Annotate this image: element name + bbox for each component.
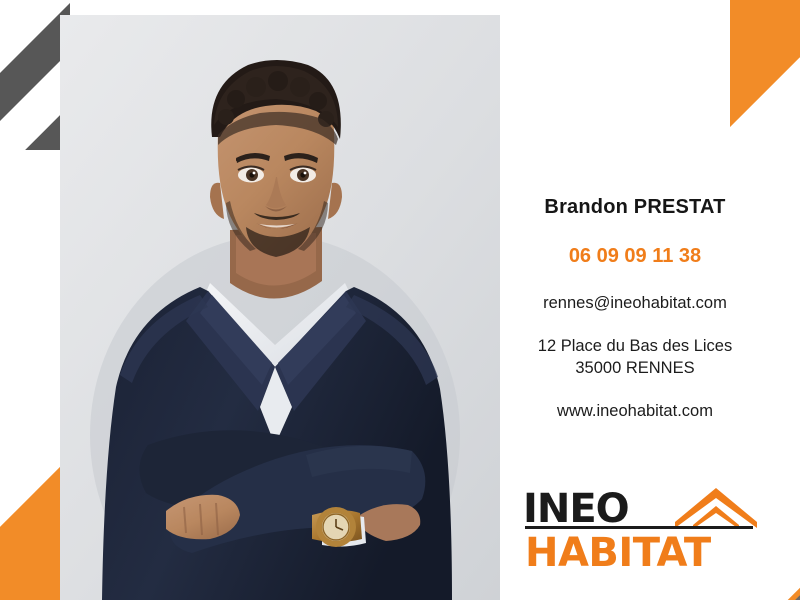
ineo-habitat-logo: INEO HABITAT (515, 486, 765, 586)
address-line-1: 12 Place du Bas des Lices (495, 335, 775, 357)
address-line-2: 35000 RENNES (495, 357, 775, 379)
contact-name: Brandon PRESTAT (495, 196, 775, 219)
business-card: Brandon PRESTAT 06 09 09 11 38 rennes@in… (0, 0, 800, 600)
contact-email[interactable]: rennes@ineohabitat.com (495, 294, 775, 313)
logo-divider (525, 526, 753, 529)
house-roof-icon (673, 486, 759, 530)
contact-phone[interactable]: 06 09 09 11 38 (495, 245, 775, 268)
contact-address: 12 Place du Bas des Lices 35000 RENNES (495, 335, 775, 380)
agent-portrait-photo (60, 15, 500, 600)
logo-word-habitat: HABITAT (525, 530, 711, 576)
contact-website[interactable]: www.ineohabitat.com (495, 402, 775, 421)
contact-info-block: Brandon PRESTAT 06 09 09 11 38 rennes@in… (495, 196, 775, 421)
